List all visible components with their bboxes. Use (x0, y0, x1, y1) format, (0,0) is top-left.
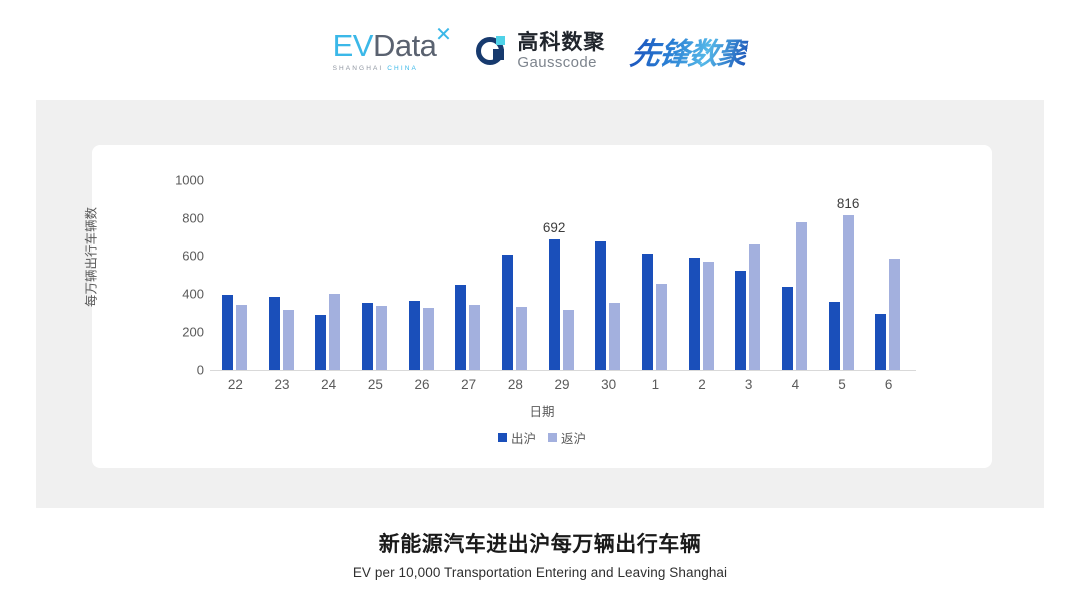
bar-back[interactable] (469, 305, 480, 370)
x-axis-baseline (210, 370, 916, 371)
bar-chart: 每万辆出行车辆数 02004006008001000 692816 日期 出沪返… (92, 145, 992, 468)
y-tick-label: 0 (156, 363, 204, 378)
gausscode-wordmark: 高科数聚 Gausscode (517, 32, 605, 70)
bar-value-label: 692 (543, 220, 566, 235)
x-tick-label: 23 (259, 377, 305, 392)
gausscode-logo: 高科数聚 Gausscode (476, 32, 605, 70)
bar-out[interactable] (595, 241, 606, 370)
bar-group (212, 165, 259, 370)
bar-out[interactable] (269, 297, 280, 370)
y-tick-label: 800 (156, 211, 204, 226)
y-tick-label: 400 (156, 287, 204, 302)
x-tick-label: 22 (212, 377, 258, 392)
bar-group (865, 165, 912, 370)
evdata-data-text: Data (373, 28, 436, 63)
bar-out[interactable] (409, 301, 420, 370)
legend-label: 返沪 (561, 428, 586, 447)
x-tick-label: 5 (819, 377, 865, 392)
bar-back[interactable] (749, 244, 760, 370)
x-tick-label: 30 (586, 377, 632, 392)
legend-item[interactable]: 返沪 (548, 428, 586, 447)
bar-back[interactable] (656, 284, 667, 370)
bar-group (679, 165, 726, 370)
x-tick-label: 2 (679, 377, 725, 392)
bar-out[interactable] (875, 314, 886, 370)
bar-group (305, 165, 352, 370)
bar-back[interactable] (423, 308, 434, 370)
bar-group: 816 (819, 165, 866, 370)
legend-swatch (498, 433, 507, 442)
bar-group (492, 165, 539, 370)
x-tick-label: 4 (772, 377, 818, 392)
y-tick-label: 600 (156, 249, 204, 264)
plot-area: 692816 (212, 165, 912, 370)
evdata-wordmark: EVData ✕ (333, 30, 437, 61)
x-tick-label: 6 (866, 377, 912, 392)
footer-subtitle: EV per 10,000 Transportation Entering an… (0, 565, 1080, 580)
bar-back[interactable] (563, 310, 574, 370)
bar-back[interactable] (283, 310, 294, 370)
evdata-tagline: SHANGHAI CHINA (333, 65, 418, 72)
gausscode-dark-square-shape (493, 49, 504, 60)
bar-out[interactable] (782, 287, 793, 370)
logo-bar: EVData ✕ SHANGHAI CHINA 高科数聚 Gausscode 先… (0, 18, 1080, 84)
x-tick-label: 27 (446, 377, 492, 392)
evdata-tagline-shanghai: SHANGHAI (333, 65, 388, 72)
gausscode-english-name: Gausscode (517, 55, 605, 70)
footer-title: 新能源汽车进出沪每万辆出行车辆 (0, 528, 1080, 558)
bar-group (772, 165, 819, 370)
evdata-ev-text: EV (333, 28, 373, 63)
chart-card: 每万辆出行车辆数 02004006008001000 692816 日期 出沪返… (92, 145, 992, 468)
x-tick-label: 28 (492, 377, 538, 392)
bar-out[interactable] (642, 254, 653, 370)
x-tick-label: 24 (306, 377, 352, 392)
legend-swatch (548, 433, 557, 442)
bar-back[interactable] (516, 307, 527, 370)
bar-out[interactable]: 692 (549, 239, 560, 370)
bar-group (259, 165, 306, 370)
bar-back[interactable] (329, 294, 340, 370)
bar-out[interactable] (689, 258, 700, 370)
bar-out[interactable] (502, 255, 513, 370)
x-tick-label: 29 (539, 377, 585, 392)
bar-out[interactable] (455, 285, 466, 370)
y-tick-label: 1000 (156, 173, 204, 188)
footer: 新能源汽车进出沪每万辆出行车辆 EV per 10,000 Transporta… (0, 528, 1080, 580)
bar-back[interactable] (236, 305, 247, 370)
bar-group: 692 (539, 165, 586, 370)
bar-group (585, 165, 632, 370)
bar-back[interactable] (796, 222, 807, 370)
bar-group (399, 165, 446, 370)
evdata-tagline-china: CHINA (387, 65, 418, 72)
bar-back[interactable] (889, 259, 900, 370)
gausscode-chinese-name: 高科数聚 (517, 32, 605, 53)
bar-group (445, 165, 492, 370)
bar-out[interactable] (362, 303, 373, 370)
bar-group (352, 165, 399, 370)
bar-back[interactable] (703, 262, 714, 370)
xianfeng-logo: 先锋数聚 (628, 29, 750, 73)
bar-back[interactable] (376, 306, 387, 370)
y-axis-title: 每万辆出行车辆数 (81, 187, 100, 327)
bar-back[interactable] (609, 303, 620, 370)
evdata-logo: EVData ✕ SHANGHAI CHINA (333, 30, 451, 72)
bar-out[interactable] (735, 271, 746, 370)
bar-out[interactable] (829, 302, 840, 370)
evdata-x-icon: ✕ (435, 25, 451, 45)
y-tick-label: 200 (156, 325, 204, 340)
bar-value-label: 816 (837, 196, 860, 211)
x-axis-title: 日期 (92, 401, 992, 420)
gausscode-accent-square-shape (496, 36, 505, 45)
x-tick-label: 1 (632, 377, 678, 392)
chart-legend: 出沪返沪 (92, 428, 992, 447)
x-tick-label: 25 (352, 377, 398, 392)
bar-group (725, 165, 772, 370)
x-tick-label: 26 (399, 377, 445, 392)
legend-item[interactable]: 出沪 (498, 428, 536, 447)
x-tick-label: 3 (726, 377, 772, 392)
bar-out[interactable] (222, 295, 233, 370)
gausscode-mark-icon (476, 34, 510, 68)
bar-group (632, 165, 679, 370)
legend-label: 出沪 (511, 428, 536, 447)
bar-back[interactable]: 816 (843, 215, 854, 370)
bar-out[interactable] (315, 315, 326, 370)
